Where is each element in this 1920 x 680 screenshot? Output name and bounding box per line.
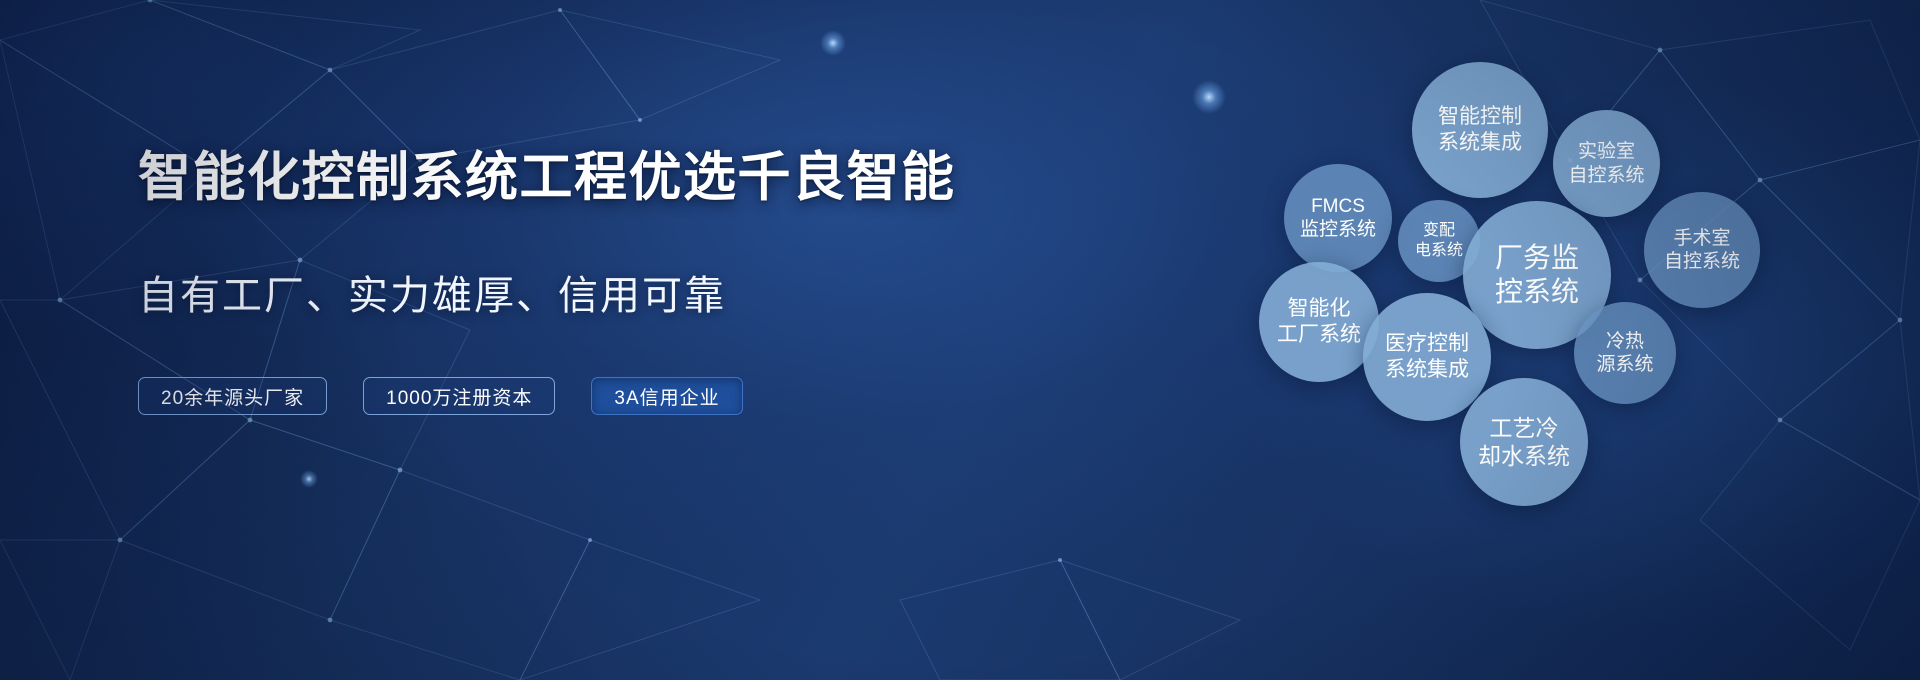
bubble-label-line: FMCS (1311, 195, 1365, 218)
service-bubble-intelligent-control-system-integration[interactable]: 智能控制系统集成 (1412, 62, 1548, 198)
hero-subtitle: 自有工厂、实力雄厚、信用可靠 (138, 263, 968, 321)
bubble-label-line: 实验室 (1578, 140, 1635, 163)
page-title: 智能化控制系统工程优选千良智能 (138, 148, 968, 207)
bubble-label-line: 电系统 (1415, 241, 1463, 261)
service-bubble-fmcs-monitoring-system[interactable]: FMCS监控系统 (1284, 164, 1392, 272)
credential-badge-2[interactable]: 1000万注册资本 (363, 377, 555, 415)
bubble-label-line: 工艺冷 (1490, 414, 1559, 442)
bubble-label-line: 却水系统 (1478, 442, 1570, 470)
bubble-label-line: 自控系统 (1664, 250, 1740, 273)
bubble-label-line: 智能控制 (1438, 104, 1522, 130)
credential-badge-1[interactable]: 20余年源头厂家 (138, 377, 327, 415)
bubble-label-line: 厂务监 (1495, 241, 1579, 275)
bubble-label-line: 监控系统 (1300, 218, 1376, 241)
light-spark-icon (300, 470, 318, 488)
service-bubble-cluster: 智能控制系统集成实验室自控系统FMCS监控系统手术室自控系统变配电系统厂务监控系… (1150, 0, 1920, 680)
service-bubble-laboratory-automation-system[interactable]: 实验室自控系统 (1553, 110, 1660, 217)
bubble-label-line: 智能化 (1288, 296, 1351, 322)
bubble-label-line: 工厂系统 (1277, 322, 1361, 348)
bubble-label-line: 变配 (1423, 221, 1455, 241)
bubble-label-line: 自控系统 (1568, 164, 1644, 187)
badge-list: 20余年源头厂家1000万注册资本3A信用企业 (138, 377, 968, 415)
light-spark-icon (820, 30, 846, 56)
credential-badge-3[interactable]: 3A信用企业 (591, 377, 742, 415)
bubble-label-line: 控系统 (1495, 275, 1579, 309)
bubble-label-line: 系统集成 (1385, 357, 1469, 383)
service-bubble-operating-room-automation-system[interactable]: 手术室自控系统 (1644, 192, 1760, 308)
service-bubble-process-cooling-water-system[interactable]: 工艺冷却水系统 (1460, 378, 1588, 506)
service-bubble-medical-control-system-integration[interactable]: 医疗控制系统集成 (1363, 293, 1491, 421)
service-bubble-intelligent-factory-system[interactable]: 智能化工厂系统 (1259, 262, 1379, 382)
bubble-label-line: 系统集成 (1438, 130, 1522, 156)
bubble-label-line: 医疗控制 (1385, 331, 1469, 357)
hero-banner: 智能化控制系统工程优选千良智能 自有工厂、实力雄厚、信用可靠 20余年源头厂家1… (0, 0, 1920, 680)
bubble-label-line: 源系统 (1596, 353, 1653, 376)
bubble-label-line: 冷热 (1606, 330, 1644, 353)
service-bubble-cooling-heating-source-system[interactable]: 冷热源系统 (1574, 302, 1676, 404)
hero-text-block: 智能化控制系统工程优选千良智能 自有工厂、实力雄厚、信用可靠 20余年源头厂家1… (138, 148, 968, 415)
bubble-label-line: 手术室 (1673, 227, 1730, 250)
